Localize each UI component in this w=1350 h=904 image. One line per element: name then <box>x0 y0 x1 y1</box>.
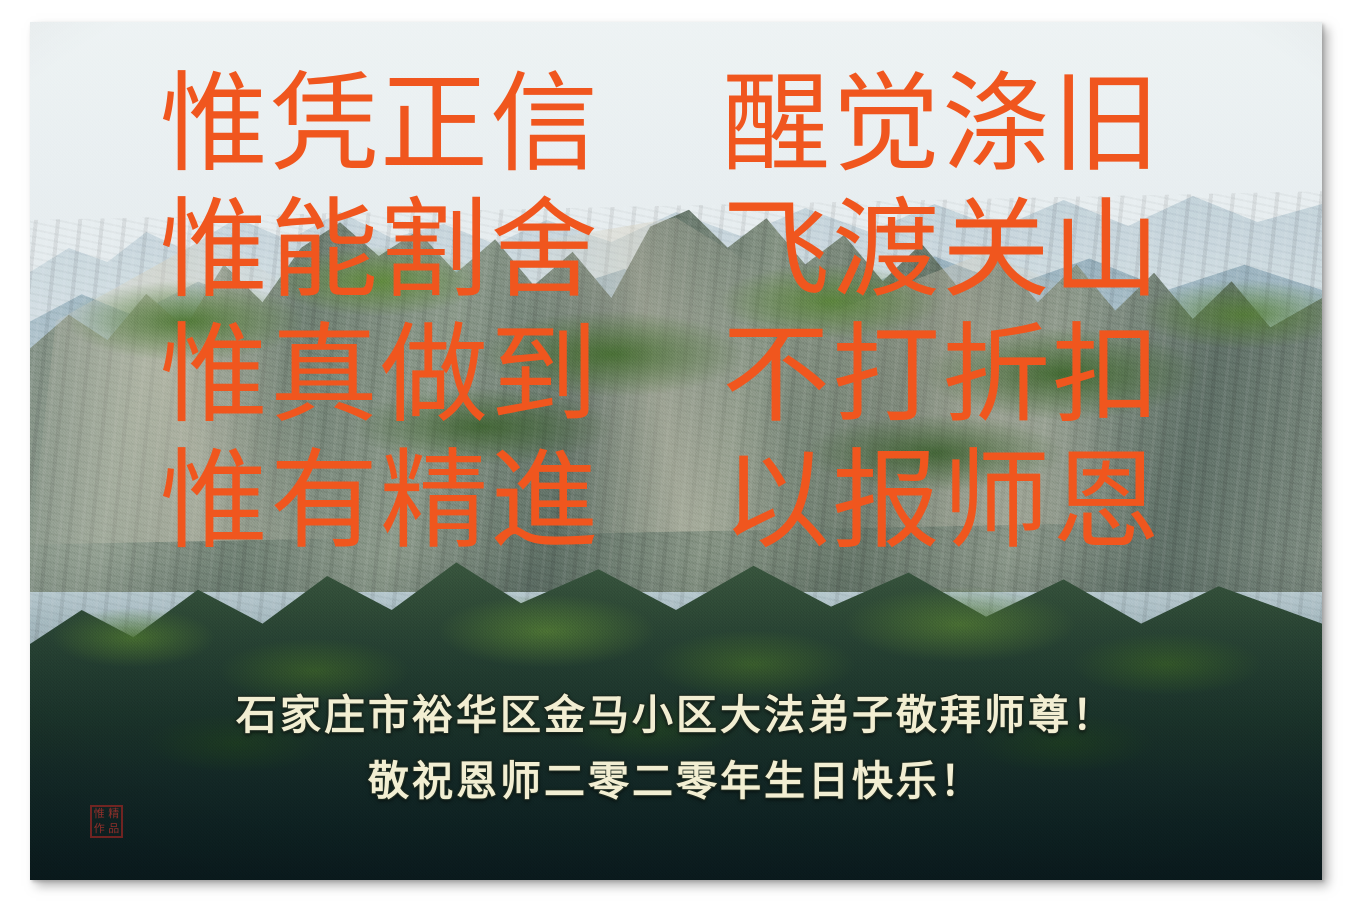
artist-seal-stamp: 惟 精 作 品 <box>90 805 123 838</box>
couplet-row-4: 惟有精進 以报师恩 <box>30 437 1322 567</box>
dedication-block: 石家庄市裕华区金马小区大法弟子敬拜师尊！ 敬祝恩师二零二零年生日快乐！ <box>30 682 1322 815</box>
seal-char-3: 作 <box>92 822 107 837</box>
couplet-row-2-left: 惟能割舍 <box>160 186 630 316</box>
couplet-row-2: 惟能割舍 飞渡关山 <box>30 186 1322 316</box>
dedication-line-2: 敬祝恩师二零二零年生日快乐！ <box>30 748 1322 814</box>
couplet-row-4-left: 惟有精進 <box>160 437 630 567</box>
couplet-row-1-left: 惟凭正信 <box>160 60 630 190</box>
card-page: 惟凭正信 醒觉涤旧 惟能割舍 飞渡关山 惟真做到 不打折扣 惟有精進 以报师恩 … <box>0 0 1350 904</box>
couplet-row-3: 惟真做到 不打折扣 <box>30 311 1322 441</box>
couplet-row-3-left: 惟真做到 <box>160 311 630 441</box>
seal-char-4: 品 <box>107 822 122 837</box>
seal-char-1: 惟 <box>92 807 107 822</box>
couplet-row-1: 惟凭正信 醒觉涤旧 <box>30 60 1322 190</box>
seal-char-2: 精 <box>107 807 122 822</box>
dedication-line-1: 石家庄市裕华区金马小区大法弟子敬拜师尊！ <box>30 682 1322 748</box>
couplet-row-4-right: 以报师恩 <box>722 437 1192 567</box>
couplet-row-3-right: 不打折扣 <box>722 311 1192 441</box>
couplet-row-1-right: 醒觉涤旧 <box>722 60 1192 190</box>
photo-frame: 惟凭正信 醒觉涤旧 惟能割舍 飞渡关山 惟真做到 不打折扣 惟有精進 以报师恩 … <box>30 22 1322 880</box>
couplet-row-2-right: 飞渡关山 <box>722 186 1192 316</box>
